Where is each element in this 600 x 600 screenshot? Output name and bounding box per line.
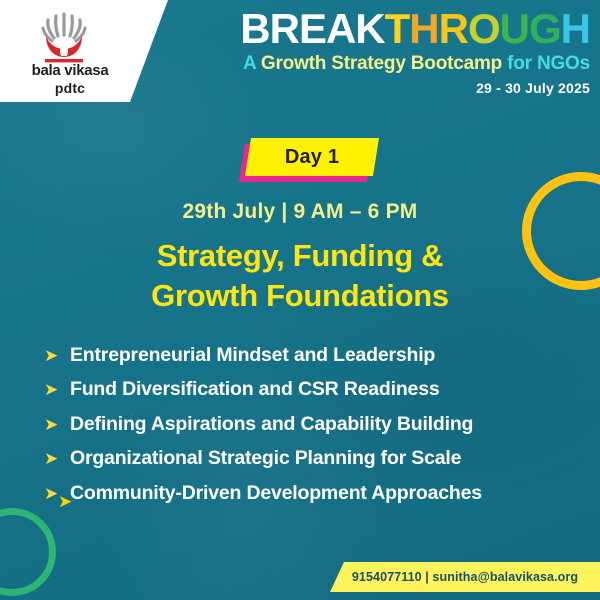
event-subtitle: A Growth Strategy Bootcamp for NGOs (240, 53, 590, 75)
session-heading: Strategy, Funding & Growth Foundations (0, 236, 600, 315)
balavikasa-lotus-logo-icon (26, 8, 102, 66)
topic-arrow-icon: ➤ (44, 450, 70, 467)
topic-item: ➤Defining Aspirations and Capability Bui… (44, 413, 584, 435)
subtitle-part-1: A (243, 53, 261, 74)
subtitle-part-3: for NGOs (507, 53, 590, 74)
title-block: BREAKTHROUGH A Growth Strategy Bootcamp … (240, 8, 590, 96)
green-ring-decoration (0, 508, 56, 596)
topic-label: Fund Diversification and CSR Readiness (70, 378, 439, 400)
topic-label: Entrepreneurial Mindset and Leadership (70, 344, 435, 366)
topic-label: Organizational Strategic Planning for Sc… (70, 447, 461, 469)
logo-wordmark: bala vikasa (0, 62, 140, 79)
topic-label: Community-Driven Development Approaches (70, 482, 482, 504)
title-letter-4: U (500, 8, 529, 50)
topic-arrow-icon: ➤ (44, 485, 70, 502)
day-badge-label: Day 1 (248, 138, 376, 176)
topic-label: Defining Aspirations and Capability Buil… (70, 413, 473, 435)
logo-panel: bala vikasa pdtc (0, 0, 168, 102)
topic-item: ➤Fund Diversification and CSR Readiness (44, 378, 584, 400)
session-heading-line-2: Growth Foundations (0, 276, 600, 316)
topic-item: ➤Organizational Strategic Planning for S… (44, 447, 584, 469)
title-word-through: THROUGH (385, 5, 590, 52)
day-badge: Day 1 (248, 138, 378, 180)
event-dates: 29 - 30 July 2025 (240, 80, 590, 96)
title-letter-3: O (468, 8, 500, 50)
title-letter-2: R (439, 8, 468, 50)
session-time: 29th July | 9 AM – 6 PM (0, 200, 600, 224)
title-letter-6: H (561, 8, 590, 50)
event-title: BREAKTHROUGH (240, 8, 590, 50)
footer-contact-text: 9154077110 | sunitha@balavikasa.org (330, 562, 600, 592)
title-letter-0: T (385, 8, 410, 50)
topic-item: ➤Entrepreneurial Mindset and Leadership (44, 344, 584, 366)
topic-arrow-icon: ➤ (44, 347, 70, 364)
title-word-break: BREAK (240, 5, 384, 52)
logo-sub-wordmark: pdtc (0, 80, 140, 96)
title-letter-1: H (409, 8, 438, 50)
topics-list: ➤Entrepreneurial Mindset and Leadership➤… (44, 344, 584, 516)
subtitle-part-2: Growth Strategy Bootcamp (261, 53, 507, 74)
poster-canvas: ➤ bala vikasa pdtc BREAKTHROUGH A Growth… (0, 0, 600, 600)
session-heading-line-1: Strategy, Funding & (0, 236, 600, 276)
title-letter-5: G (529, 8, 561, 50)
topic-arrow-icon: ➤ (44, 381, 70, 398)
topic-item: ➤Community-Driven Development Approaches (44, 482, 584, 504)
topic-arrow-icon: ➤ (44, 416, 70, 433)
